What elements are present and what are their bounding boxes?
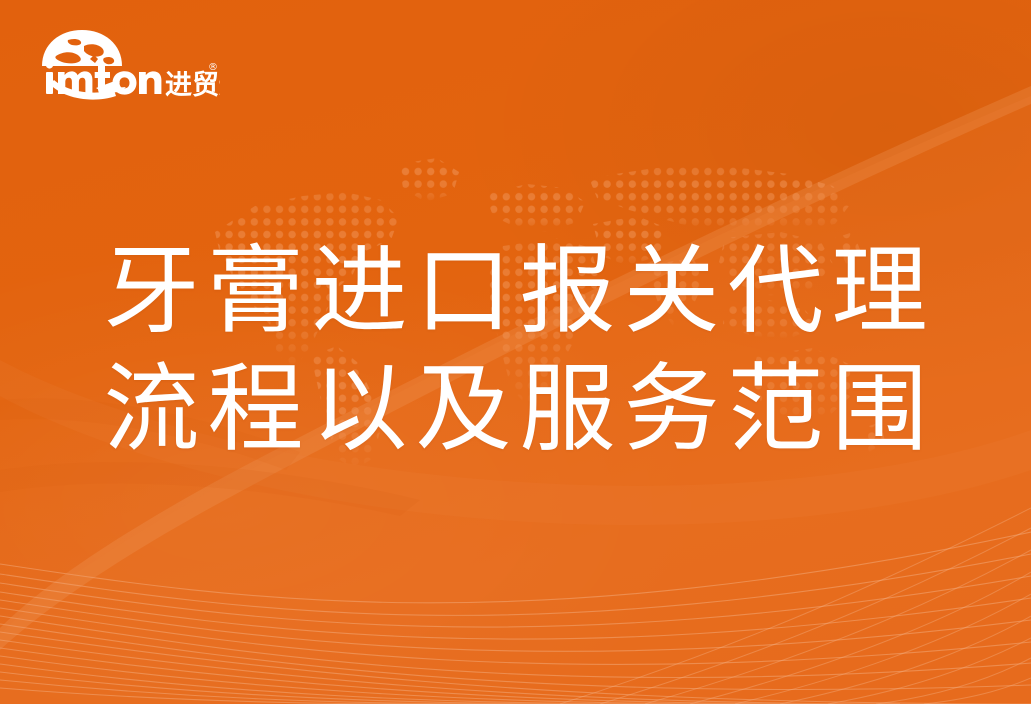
- logo-wordmark: [46, 61, 161, 95]
- headline-line-1: 牙膏进口报关代理: [0, 232, 1031, 350]
- headline-block: 牙膏进口报关代理 流程以及服务范围: [0, 232, 1031, 468]
- imton-logo[interactable]: 进贸通 ®: [34, 26, 220, 106]
- globe-logistics-icon: [42, 30, 126, 100]
- headline-line-2: 流程以及服务范围: [0, 350, 1031, 468]
- registered-trademark-icon: ®: [208, 62, 218, 73]
- logo-chinese-name: 进贸通: [165, 70, 220, 101]
- promotional-banner: 进贸通 ® 牙膏进口报关代理 流程以及服务范围: [0, 0, 1031, 704]
